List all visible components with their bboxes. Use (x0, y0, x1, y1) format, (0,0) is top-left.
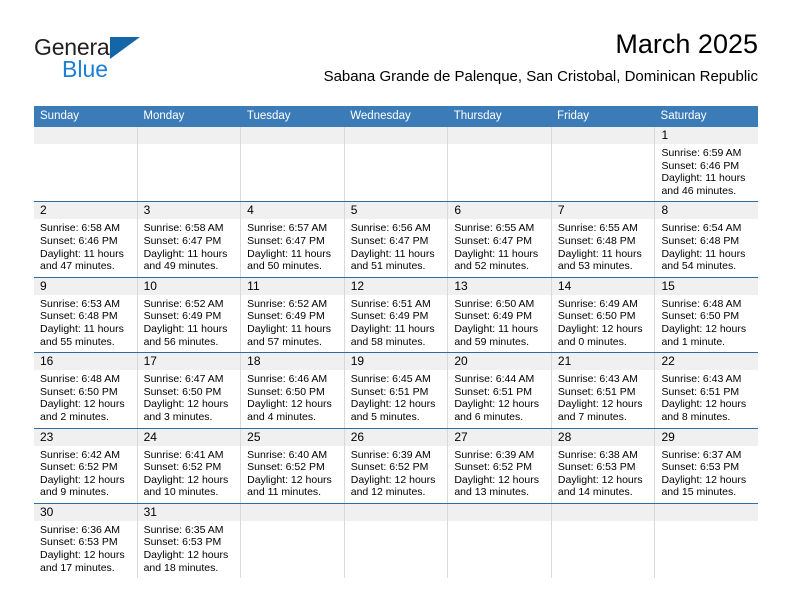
day-details: Sunrise: 6:52 AMSunset: 6:49 PMDaylight:… (241, 295, 344, 352)
day-number: 27 (448, 429, 551, 446)
sunrise-text: Sunrise: 6:47 AM (144, 373, 235, 386)
sunrise-text: Sunrise: 6:48 AM (40, 373, 131, 386)
day-details: Sunrise: 6:53 AMSunset: 6:48 PMDaylight:… (34, 295, 137, 352)
calendar-empty-cell (551, 127, 655, 201)
day-number (448, 504, 551, 521)
calendar-day-cell[interactable]: 30Sunrise: 6:36 AMSunset: 6:53 PMDayligh… (34, 504, 137, 578)
sunset-text: Sunset: 6:47 PM (351, 235, 442, 248)
day-number: 7 (552, 202, 655, 219)
sunrise-text: Sunrise: 6:45 AM (351, 373, 442, 386)
day-number: 1 (655, 127, 758, 144)
day-details: Sunrise: 6:46 AMSunset: 6:50 PMDaylight:… (241, 370, 344, 427)
day-details: Sunrise: 6:44 AMSunset: 6:51 PMDaylight:… (448, 370, 551, 427)
calendar-day-cell[interactable]: 27Sunrise: 6:39 AMSunset: 6:52 PMDayligh… (447, 429, 551, 503)
day-number: 19 (345, 353, 448, 370)
calendar-day-cell[interactable]: 24Sunrise: 6:41 AMSunset: 6:52 PMDayligh… (137, 429, 241, 503)
day-number: 4 (241, 202, 344, 219)
daylight-text: Daylight: 12 hours and 0 minutes. (558, 323, 649, 348)
day-number: 25 (241, 429, 344, 446)
sunset-text: Sunset: 6:46 PM (661, 160, 752, 173)
calendar-empty-cell (240, 504, 344, 578)
daylight-text: Daylight: 12 hours and 8 minutes. (661, 398, 752, 423)
sunrise-text: Sunrise: 6:36 AM (40, 524, 131, 537)
sunrise-text: Sunrise: 6:58 AM (144, 222, 235, 235)
daylight-text: Daylight: 11 hours and 56 minutes. (144, 323, 235, 348)
sunrise-text: Sunrise: 6:41 AM (144, 449, 235, 462)
sunset-text: Sunset: 6:51 PM (454, 386, 545, 399)
calendar-day-cell[interactable]: 10Sunrise: 6:52 AMSunset: 6:49 PMDayligh… (137, 278, 241, 352)
sunset-text: Sunset: 6:46 PM (40, 235, 131, 248)
day-number: 12 (345, 278, 448, 295)
sunset-text: Sunset: 6:49 PM (247, 310, 338, 323)
calendar-empty-cell (344, 127, 448, 201)
day-number: 9 (34, 278, 137, 295)
day-details: Sunrise: 6:47 AMSunset: 6:50 PMDaylight:… (138, 370, 241, 427)
daylight-text: Daylight: 12 hours and 1 minute. (661, 323, 752, 348)
sunset-text: Sunset: 6:52 PM (454, 461, 545, 474)
calendar-empty-cell (240, 127, 344, 201)
calendar-week-row: 16Sunrise: 6:48 AMSunset: 6:50 PMDayligh… (34, 352, 758, 427)
calendar-day-cell[interactable]: 17Sunrise: 6:47 AMSunset: 6:50 PMDayligh… (137, 353, 241, 427)
weekday-header-row: Sunday Monday Tuesday Wednesday Thursday… (34, 106, 758, 127)
daylight-text: Daylight: 12 hours and 2 minutes. (40, 398, 131, 423)
sunset-text: Sunset: 6:49 PM (351, 310, 442, 323)
calendar-day-cell[interactable]: 14Sunrise: 6:49 AMSunset: 6:50 PMDayligh… (551, 278, 655, 352)
sunset-text: Sunset: 6:51 PM (661, 386, 752, 399)
calendar-empty-cell (654, 504, 758, 578)
sunrise-text: Sunrise: 6:53 AM (40, 298, 131, 311)
sunset-text: Sunset: 6:47 PM (454, 235, 545, 248)
day-details: Sunrise: 6:50 AMSunset: 6:49 PMDaylight:… (448, 295, 551, 352)
day-number: 24 (138, 429, 241, 446)
day-details: Sunrise: 6:36 AMSunset: 6:53 PMDaylight:… (34, 521, 137, 578)
day-number: 2 (34, 202, 137, 219)
calendar-day-cell[interactable]: 3Sunrise: 6:58 AMSunset: 6:47 PMDaylight… (137, 202, 241, 276)
day-number: 29 (655, 429, 758, 446)
daylight-text: Daylight: 11 hours and 50 minutes. (247, 248, 338, 273)
sunset-text: Sunset: 6:50 PM (144, 386, 235, 399)
day-details: Sunrise: 6:55 AMSunset: 6:48 PMDaylight:… (552, 219, 655, 276)
daylight-text: Daylight: 12 hours and 9 minutes. (40, 474, 131, 499)
calendar-day-cell[interactable]: 20Sunrise: 6:44 AMSunset: 6:51 PMDayligh… (447, 353, 551, 427)
day-details: Sunrise: 6:56 AMSunset: 6:47 PMDaylight:… (345, 219, 448, 276)
day-number (138, 127, 241, 144)
weekday-header-thursday: Thursday (448, 106, 551, 127)
sunset-text: Sunset: 6:50 PM (40, 386, 131, 399)
daylight-text: Daylight: 11 hours and 46 minutes. (661, 172, 752, 197)
calendar-day-cell[interactable]: 7Sunrise: 6:55 AMSunset: 6:48 PMDaylight… (551, 202, 655, 276)
daylight-text: Daylight: 11 hours and 59 minutes. (454, 323, 545, 348)
calendar-day-cell[interactable]: 1Sunrise: 6:59 AMSunset: 6:46 PMDaylight… (654, 127, 758, 201)
sunset-text: Sunset: 6:53 PM (144, 536, 235, 549)
calendar-day-cell[interactable]: 21Sunrise: 6:43 AMSunset: 6:51 PMDayligh… (551, 353, 655, 427)
day-details: Sunrise: 6:38 AMSunset: 6:53 PMDaylight:… (552, 446, 655, 503)
daylight-text: Daylight: 11 hours and 55 minutes. (40, 323, 131, 348)
sunset-text: Sunset: 6:52 PM (351, 461, 442, 474)
calendar-day-cell[interactable]: 22Sunrise: 6:43 AMSunset: 6:51 PMDayligh… (654, 353, 758, 427)
day-details: Sunrise: 6:43 AMSunset: 6:51 PMDaylight:… (655, 370, 758, 427)
daylight-text: Daylight: 11 hours and 54 minutes. (661, 248, 752, 273)
day-details: Sunrise: 6:58 AMSunset: 6:46 PMDaylight:… (34, 219, 137, 276)
daylight-text: Daylight: 12 hours and 11 minutes. (247, 474, 338, 499)
daylight-text: Daylight: 11 hours and 47 minutes. (40, 248, 131, 273)
day-details: Sunrise: 6:43 AMSunset: 6:51 PMDaylight:… (552, 370, 655, 427)
calendar-day-cell[interactable]: 16Sunrise: 6:48 AMSunset: 6:50 PMDayligh… (34, 353, 137, 427)
daylight-text: Daylight: 12 hours and 17 minutes. (40, 549, 131, 574)
day-number: 8 (655, 202, 758, 219)
day-details: Sunrise: 6:42 AMSunset: 6:52 PMDaylight:… (34, 446, 137, 503)
day-number: 20 (448, 353, 551, 370)
sunset-text: Sunset: 6:48 PM (558, 235, 649, 248)
sunrise-text: Sunrise: 6:52 AM (144, 298, 235, 311)
calendar-day-cell[interactable]: 19Sunrise: 6:45 AMSunset: 6:51 PMDayligh… (344, 353, 448, 427)
calendar-week-row: 23Sunrise: 6:42 AMSunset: 6:52 PMDayligh… (34, 428, 758, 503)
day-details: Sunrise: 6:48 AMSunset: 6:50 PMDaylight:… (655, 295, 758, 352)
title-block: March 2025 Sabana Grande de Palenque, Sa… (324, 28, 758, 88)
calendar-day-cell[interactable]: 6Sunrise: 6:55 AMSunset: 6:47 PMDaylight… (447, 202, 551, 276)
sunset-text: Sunset: 6:53 PM (558, 461, 649, 474)
weekday-header-friday: Friday (551, 106, 654, 127)
calendar-page: General Blue March 2025 Sabana Grande de… (0, 0, 792, 612)
page-title: March 2025 (324, 28, 758, 60)
sunrise-text: Sunrise: 6:57 AM (247, 222, 338, 235)
logo-triangle-icon (110, 37, 140, 59)
sunset-text: Sunset: 6:48 PM (40, 310, 131, 323)
calendar-day-cell[interactable]: 4Sunrise: 6:57 AMSunset: 6:47 PMDaylight… (240, 202, 344, 276)
sunset-text: Sunset: 6:51 PM (351, 386, 442, 399)
sunset-text: Sunset: 6:49 PM (454, 310, 545, 323)
calendar-week-row: 1Sunrise: 6:59 AMSunset: 6:46 PMDaylight… (34, 127, 758, 201)
calendar-empty-cell (447, 504, 551, 578)
day-number (552, 127, 655, 144)
sunrise-text: Sunrise: 6:56 AM (351, 222, 442, 235)
daylight-text: Daylight: 11 hours and 52 minutes. (454, 248, 545, 273)
day-number: 17 (138, 353, 241, 370)
daylight-text: Daylight: 12 hours and 6 minutes. (454, 398, 545, 423)
day-number: 3 (138, 202, 241, 219)
daylight-text: Daylight: 11 hours and 53 minutes. (558, 248, 649, 273)
day-number: 15 (655, 278, 758, 295)
day-number (241, 127, 344, 144)
sunrise-text: Sunrise: 6:37 AM (661, 449, 752, 462)
day-number (448, 127, 551, 144)
sunrise-text: Sunrise: 6:58 AM (40, 222, 131, 235)
sunrise-text: Sunrise: 6:52 AM (247, 298, 338, 311)
daylight-text: Daylight: 11 hours and 51 minutes. (351, 248, 442, 273)
day-details: Sunrise: 6:39 AMSunset: 6:52 PMDaylight:… (448, 446, 551, 503)
calendar-day-cell[interactable]: 5Sunrise: 6:56 AMSunset: 6:47 PMDaylight… (344, 202, 448, 276)
calendar-empty-cell (447, 127, 551, 201)
weekday-header-sunday: Sunday (34, 106, 137, 127)
calendar-week-row: 2Sunrise: 6:58 AMSunset: 6:46 PMDaylight… (34, 201, 758, 276)
sunset-text: Sunset: 6:51 PM (558, 386, 649, 399)
daylight-text: Daylight: 12 hours and 15 minutes. (661, 474, 752, 499)
general-blue-logo[interactable]: General Blue (34, 34, 174, 90)
sunset-text: Sunset: 6:49 PM (144, 310, 235, 323)
day-number: 13 (448, 278, 551, 295)
daylight-text: Daylight: 12 hours and 12 minutes. (351, 474, 442, 499)
sunrise-text: Sunrise: 6:54 AM (661, 222, 752, 235)
daylight-text: Daylight: 12 hours and 18 minutes. (144, 549, 235, 574)
day-details: Sunrise: 6:57 AMSunset: 6:47 PMDaylight:… (241, 219, 344, 276)
day-details: Sunrise: 6:52 AMSunset: 6:49 PMDaylight:… (138, 295, 241, 352)
sunrise-text: Sunrise: 6:48 AM (661, 298, 752, 311)
sunset-text: Sunset: 6:48 PM (661, 235, 752, 248)
daylight-text: Daylight: 12 hours and 14 minutes. (558, 474, 649, 499)
day-number: 30 (34, 504, 137, 521)
day-number (241, 504, 344, 521)
location-subtitle: Sabana Grande de Palenque, San Cristobal… (324, 66, 758, 88)
day-number: 10 (138, 278, 241, 295)
calendar-day-cell[interactable]: 11Sunrise: 6:52 AMSunset: 6:49 PMDayligh… (240, 278, 344, 352)
day-number: 28 (552, 429, 655, 446)
sunset-text: Sunset: 6:47 PM (144, 235, 235, 248)
day-details: Sunrise: 6:55 AMSunset: 6:47 PMDaylight:… (448, 219, 551, 276)
day-number: 22 (655, 353, 758, 370)
sunrise-text: Sunrise: 6:59 AM (661, 147, 752, 160)
calendar-day-cell[interactable]: 13Sunrise: 6:50 AMSunset: 6:49 PMDayligh… (447, 278, 551, 352)
page-header: General Blue March 2025 Sabana Grande de… (34, 28, 758, 100)
day-details: Sunrise: 6:58 AMSunset: 6:47 PMDaylight:… (138, 219, 241, 276)
day-number (552, 504, 655, 521)
sunrise-text: Sunrise: 6:46 AM (247, 373, 338, 386)
weekday-header-monday: Monday (137, 106, 240, 127)
calendar-day-cell[interactable]: 29Sunrise: 6:37 AMSunset: 6:53 PMDayligh… (654, 429, 758, 503)
day-number: 26 (345, 429, 448, 446)
calendar-day-cell[interactable]: 28Sunrise: 6:38 AMSunset: 6:53 PMDayligh… (551, 429, 655, 503)
calendar-grid: Sunday Monday Tuesday Wednesday Thursday… (34, 106, 758, 578)
sunrise-text: Sunrise: 6:35 AM (144, 524, 235, 537)
daylight-text: Daylight: 12 hours and 5 minutes. (351, 398, 442, 423)
daylight-text: Daylight: 12 hours and 13 minutes. (454, 474, 545, 499)
calendar-week-row: 9Sunrise: 6:53 AMSunset: 6:48 PMDaylight… (34, 277, 758, 352)
day-details: Sunrise: 6:37 AMSunset: 6:53 PMDaylight:… (655, 446, 758, 503)
day-details: Sunrise: 6:35 AMSunset: 6:53 PMDaylight:… (138, 521, 241, 578)
day-details: Sunrise: 6:40 AMSunset: 6:52 PMDaylight:… (241, 446, 344, 503)
day-number: 18 (241, 353, 344, 370)
daylight-text: Daylight: 11 hours and 49 minutes. (144, 248, 235, 273)
sunrise-text: Sunrise: 6:43 AM (661, 373, 752, 386)
sunrise-text: Sunrise: 6:39 AM (454, 449, 545, 462)
sunrise-text: Sunrise: 6:50 AM (454, 298, 545, 311)
sunset-text: Sunset: 6:52 PM (144, 461, 235, 474)
sunrise-text: Sunrise: 6:55 AM (454, 222, 545, 235)
sunset-text: Sunset: 6:50 PM (558, 310, 649, 323)
daylight-text: Daylight: 11 hours and 58 minutes. (351, 323, 442, 348)
day-details: Sunrise: 6:54 AMSunset: 6:48 PMDaylight:… (655, 219, 758, 276)
sunrise-text: Sunrise: 6:42 AM (40, 449, 131, 462)
sunrise-text: Sunrise: 6:44 AM (454, 373, 545, 386)
sunrise-text: Sunrise: 6:51 AM (351, 298, 442, 311)
sunset-text: Sunset: 6:53 PM (40, 536, 131, 549)
daylight-text: Daylight: 12 hours and 10 minutes. (144, 474, 235, 499)
calendar-day-cell[interactable]: 25Sunrise: 6:40 AMSunset: 6:52 PMDayligh… (240, 429, 344, 503)
calendar-weeks: 1Sunrise: 6:59 AMSunset: 6:46 PMDaylight… (34, 127, 758, 578)
day-details: Sunrise: 6:51 AMSunset: 6:49 PMDaylight:… (345, 295, 448, 352)
calendar-day-cell[interactable]: 26Sunrise: 6:39 AMSunset: 6:52 PMDayligh… (344, 429, 448, 503)
daylight-text: Daylight: 11 hours and 57 minutes. (247, 323, 338, 348)
sunset-text: Sunset: 6:53 PM (661, 461, 752, 474)
logo-text-blue: Blue (62, 57, 174, 81)
day-details: Sunrise: 6:45 AMSunset: 6:51 PMDaylight:… (345, 370, 448, 427)
day-details: Sunrise: 6:49 AMSunset: 6:50 PMDaylight:… (552, 295, 655, 352)
sunrise-text: Sunrise: 6:55 AM (558, 222, 649, 235)
sunset-text: Sunset: 6:47 PM (247, 235, 338, 248)
sunrise-text: Sunrise: 6:38 AM (558, 449, 649, 462)
day-number (345, 504, 448, 521)
sunset-text: Sunset: 6:52 PM (247, 461, 338, 474)
daylight-text: Daylight: 12 hours and 4 minutes. (247, 398, 338, 423)
day-number: 16 (34, 353, 137, 370)
day-number (655, 504, 758, 521)
calendar-week-row: 30Sunrise: 6:36 AMSunset: 6:53 PMDayligh… (34, 503, 758, 578)
calendar-empty-cell (551, 504, 655, 578)
sunset-text: Sunset: 6:50 PM (661, 310, 752, 323)
calendar-day-cell[interactable]: 12Sunrise: 6:51 AMSunset: 6:49 PMDayligh… (344, 278, 448, 352)
calendar-day-cell[interactable]: 9Sunrise: 6:53 AMSunset: 6:48 PMDaylight… (34, 278, 137, 352)
weekday-header-tuesday: Tuesday (241, 106, 344, 127)
sunrise-text: Sunrise: 6:43 AM (558, 373, 649, 386)
calendar-day-cell[interactable]: 2Sunrise: 6:58 AMSunset: 6:46 PMDaylight… (34, 202, 137, 276)
sunset-text: Sunset: 6:52 PM (40, 461, 131, 474)
calendar-day-cell[interactable]: 8Sunrise: 6:54 AMSunset: 6:48 PMDaylight… (654, 202, 758, 276)
sunrise-text: Sunrise: 6:40 AM (247, 449, 338, 462)
calendar-day-cell[interactable]: 31Sunrise: 6:35 AMSunset: 6:53 PMDayligh… (137, 504, 241, 578)
daylight-text: Daylight: 12 hours and 7 minutes. (558, 398, 649, 423)
calendar-empty-cell (137, 127, 241, 201)
day-number: 6 (448, 202, 551, 219)
day-number (34, 127, 137, 144)
calendar-day-cell[interactable]: 15Sunrise: 6:48 AMSunset: 6:50 PMDayligh… (654, 278, 758, 352)
day-number: 11 (241, 278, 344, 295)
day-number: 31 (138, 504, 241, 521)
calendar-day-cell[interactable]: 18Sunrise: 6:46 AMSunset: 6:50 PMDayligh… (240, 353, 344, 427)
day-number: 21 (552, 353, 655, 370)
day-details: Sunrise: 6:59 AMSunset: 6:46 PMDaylight:… (655, 144, 758, 201)
sunset-text: Sunset: 6:50 PM (247, 386, 338, 399)
calendar-day-cell[interactable]: 23Sunrise: 6:42 AMSunset: 6:52 PMDayligh… (34, 429, 137, 503)
weekday-header-saturday: Saturday (655, 106, 758, 127)
day-number: 5 (345, 202, 448, 219)
daylight-text: Daylight: 12 hours and 3 minutes. (144, 398, 235, 423)
day-number: 23 (34, 429, 137, 446)
sunrise-text: Sunrise: 6:49 AM (558, 298, 649, 311)
weekday-header-wednesday: Wednesday (344, 106, 447, 127)
day-details: Sunrise: 6:48 AMSunset: 6:50 PMDaylight:… (34, 370, 137, 427)
day-number: 14 (552, 278, 655, 295)
calendar-empty-cell (344, 504, 448, 578)
sunrise-text: Sunrise: 6:39 AM (351, 449, 442, 462)
day-details: Sunrise: 6:41 AMSunset: 6:52 PMDaylight:… (138, 446, 241, 503)
day-details: Sunrise: 6:39 AMSunset: 6:52 PMDaylight:… (345, 446, 448, 503)
calendar-empty-cell (34, 127, 137, 201)
day-number (345, 127, 448, 144)
